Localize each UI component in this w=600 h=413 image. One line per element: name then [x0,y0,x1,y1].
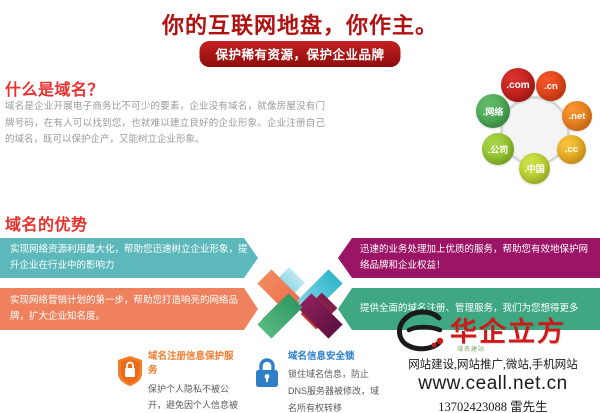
footer-website-url[interactable]: www.ceall.net.cn [386,373,600,395]
feature-body-privacy: 保护个人隐私不被公开，避免因个人信息被窃带来的电话、邮件骚扰 [148,381,240,413]
feature-title-security-lock: 域名信息安全锁 [288,350,384,364]
domain-bubble-com: .com [501,68,535,102]
logo-subtext: 域名建站 [457,344,485,353]
pinwheel-arm-green [257,293,302,338]
what-is-domain-paragraph: 域名是企业开展电子商务比不可少的要素，企业没有域名，就像房屋没有门牌号码，在有人… [5,99,325,149]
advantage-box-3: 迅速的业务处理加上优质的服务，帮助您有效地保护网络品牌和企业权益！ [338,238,600,278]
lock-icon [254,357,280,387]
e-swoosh-icon [395,308,453,352]
company-logo[interactable]: 华企立方 域名建站 [395,306,600,354]
feature-title-privacy: 域名注册信息保护服务 [148,350,240,379]
domain-extensions-circle: .com .cn .net .cc .中国 .公司 .网络 [470,68,598,200]
promo-page: 你的互联网地盘，你作主。 保护稀有资源，保护企业品牌 什么是域名？ 域名是企业开… [0,0,600,413]
header-banner: 你的互联网地盘，你作主。 保护稀有资源，保护企业品牌 [0,0,600,70]
footer-services: 网站建设,网站推广,微站,手机网站 [386,356,600,372]
advantage-text-2: 实现网络营销计划的第一步，帮助您打造响亮的网络品牌，扩大企业知名度。 [10,293,248,324]
advantage-text-3: 迅速的业务处理加上优质的服务，帮助您有效地保护网络品牌和企业权益！ [360,242,590,273]
domain-bubble-net: .net [562,101,592,131]
advantage-box-2: 实现网络营销计划的第一步，帮助您打造响亮的网络品牌，扩大企业知名度。 [0,288,258,330]
footer-contact: 网站建设,网站推广,微站,手机网站 www.ceall.net.cn 13702… [386,356,600,413]
feature-security-lock: 域名信息安全锁 锁住域名信息，防止DNS服务器被修改，域名所有权转移 [288,350,384,413]
section-heading-what-is-domain: 什么是域名？ [5,76,104,100]
domain-bubble-wangluo: .网络 [476,94,510,128]
footer-phone-contact: 13702423088 雷先生 [386,396,600,413]
domain-bubble-gongsi: .公司 [482,133,514,165]
feature-privacy-protection: 域名注册信息保护服务 保护个人隐私不被公开，避免因个人信息被窃带来的电话、邮件骚… [148,350,240,413]
advantage-text-1: 实现网络资源利用最大化，帮助您迅速树立企业形象，提升企业在行业中的影响力 [10,242,248,273]
shield-icon [118,356,142,386]
feature-body-security-lock: 锁住域名信息，防止DNS服务器被修改，域名所有权转移 [288,366,384,413]
banner-title: 你的互联网地盘，你作主。 [0,8,600,40]
pinwheel-diamond-graphic [254,256,346,348]
domain-bubble-zhongguo: .中国 [519,153,550,184]
advantage-box-1: 实现网络资源利用最大化，帮助您迅速树立企业形象，提升企业在行业中的影响力 [0,238,258,278]
section-heading-advantages: 域名的优势 [5,211,88,235]
banner-subtitle-pill: 保护稀有资源，保护企业品牌 [199,41,400,67]
domain-bubble-cc: .cc [557,135,586,164]
domain-bubble-cn: .cn [536,71,566,101]
